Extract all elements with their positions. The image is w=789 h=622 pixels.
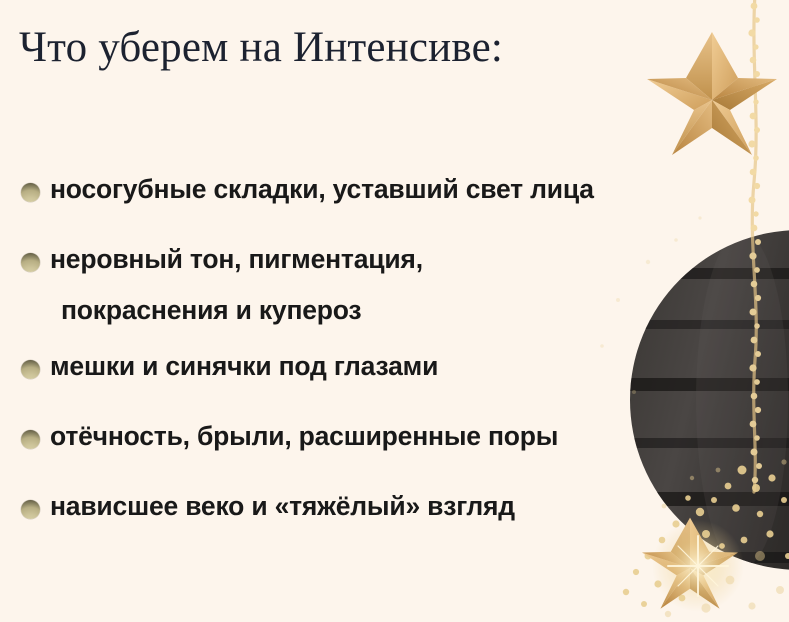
list-item-label: мешки и синячки под глазами [50, 351, 438, 381]
bullet-list: носогубные складки, уставший свет лица н… [0, 176, 760, 533]
list-item-label: носогубные складки, уставший свет лица [50, 174, 594, 204]
bullet-dot-icon [21, 500, 40, 519]
list-item: неровный тон, пигментация, покраснения и… [0, 246, 760, 323]
bullet-dot-icon [21, 183, 40, 202]
list-item-label: отёчность, брыли, расширенные поры [50, 421, 558, 451]
list-item-label: неровный тон, пигментация, [50, 244, 423, 274]
bullet-dot-icon [21, 253, 40, 272]
list-item: отёчность, брыли, расширенные поры [0, 423, 760, 463]
bullet-dot-icon [21, 360, 40, 379]
list-item-label: нависшее веко и «тяжёлый» взгляд [50, 491, 515, 521]
list-item-label-continued: покраснения и купероз [50, 297, 760, 324]
slide-canvas: Что уберем на Интенсиве: носогубные скла… [0, 0, 789, 622]
page-title: Что уберем на Интенсиве: [19, 24, 503, 72]
list-item: мешки и синячки под глазами [0, 353, 760, 393]
bullet-dot-icon [21, 430, 40, 449]
list-item: носогубные складки, уставший свет лица [0, 176, 760, 216]
slide-content: Что уберем на Интенсиве: носогубные скла… [0, 0, 789, 622]
list-item: нависшее веко и «тяжёлый» взгляд [0, 493, 760, 533]
